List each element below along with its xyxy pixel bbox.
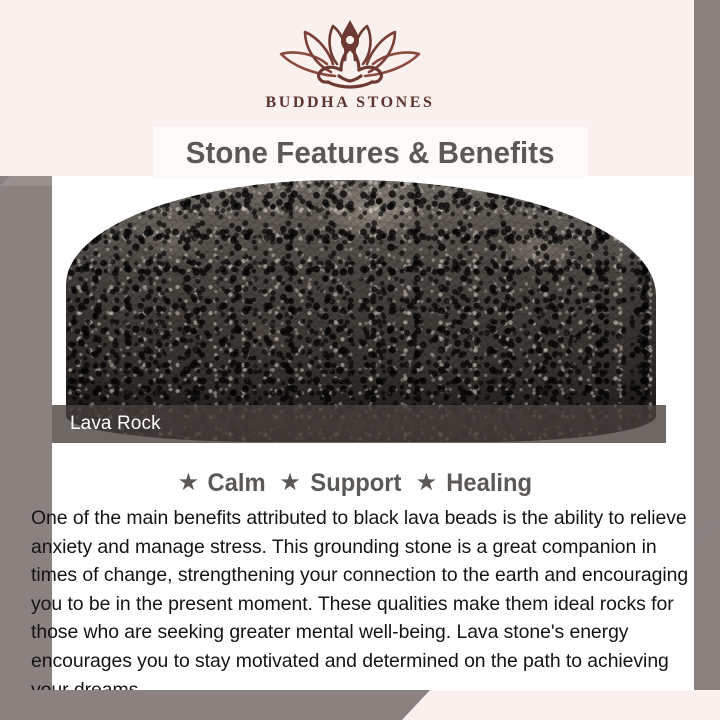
photo-caption-label: Lava Rock bbox=[70, 413, 161, 435]
star-icon: ★ bbox=[416, 471, 438, 495]
description-paragraph: One of the main benefits attributed to b… bbox=[31, 504, 697, 704]
benefit-label-calm: Calm bbox=[208, 469, 266, 498]
lava-rock-grain-texture bbox=[66, 180, 656, 442]
page-title: Stone Features & Benefits bbox=[186, 135, 555, 171]
lava-rock-shape bbox=[66, 180, 656, 442]
brand-name: BUDDHA STONES bbox=[265, 94, 434, 112]
star-icon: ★ bbox=[279, 471, 301, 495]
star-icon: ★ bbox=[178, 471, 200, 495]
lava-rock-photo bbox=[18, 176, 694, 442]
benefits-row: ★ Calm ★ Support ★ Healing bbox=[18, 466, 694, 500]
brand-header: BUDDHA STONES Stone Features & Benefits bbox=[0, 0, 700, 178]
title-banner: Stone Features & Benefits bbox=[153, 127, 588, 178]
benefit-item-support: ★ Support bbox=[279, 469, 403, 498]
benefit-item-calm: ★ Calm bbox=[178, 469, 268, 498]
benefit-label-support: Support bbox=[310, 469, 401, 498]
lotus-meditation-icon bbox=[265, 14, 435, 92]
infographic-page: Lava Rock bbox=[0, 0, 720, 720]
photo-caption-bar: Lava Rock bbox=[18, 405, 666, 443]
brand-logo: BUDDHA STONES bbox=[0, 14, 700, 112]
bottom-gray-strip bbox=[0, 690, 430, 720]
benefit-item-healing: ★ Healing bbox=[416, 469, 535, 498]
benefit-label-healing: Healing bbox=[446, 469, 532, 498]
